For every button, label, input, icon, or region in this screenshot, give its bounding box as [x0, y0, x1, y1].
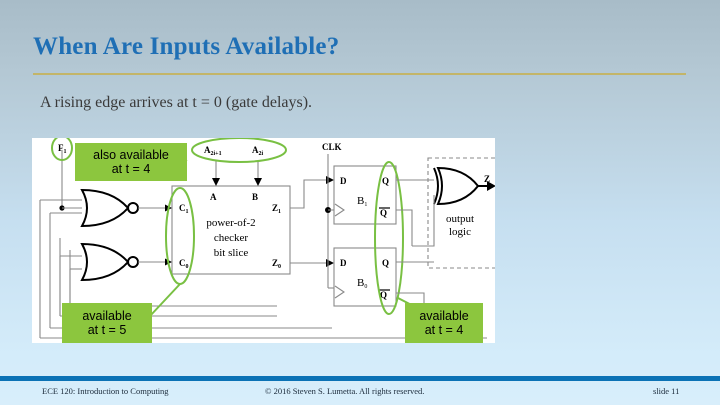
- output-z-label: Z: [484, 174, 490, 184]
- callout-line1: available: [82, 309, 131, 324]
- slide-subtitle: A rising edge arrives at t = 0 (gate del…: [40, 94, 312, 112]
- callout-line2: at t = 5: [88, 323, 127, 338]
- bitslice-out-z1-label: Z1: [272, 203, 281, 215]
- clk-label: CLK: [322, 142, 342, 152]
- input-a2i1-label: A2i+1: [204, 145, 222, 157]
- ff0-q-label: Q: [382, 258, 389, 268]
- bitslice-out-z0-label: Z0: [272, 258, 281, 270]
- callout-line2: at t = 4: [425, 323, 464, 338]
- callout-line1: available: [419, 309, 468, 324]
- callout-line1: also available: [93, 148, 169, 163]
- footer-slide-number: slide 11: [653, 386, 679, 400]
- ff1-d-label: D: [340, 176, 347, 186]
- output-logic-line1: output: [446, 213, 474, 225]
- ff0-name-label: B0: [357, 277, 367, 290]
- footer-divider-bar: [0, 376, 720, 381]
- callout-available-t4: available at t = 4: [405, 303, 483, 343]
- output-logic-line2: logic: [449, 226, 471, 238]
- ff1-q-label: Q: [382, 176, 389, 186]
- callout-line2: at t = 4: [112, 162, 151, 177]
- bitslice-input-a-label: A: [210, 192, 217, 202]
- input-a2i-label: A2i: [252, 145, 264, 157]
- bitslice-line2: checker: [214, 232, 249, 244]
- carry-in-lo-label: C0: [179, 258, 189, 270]
- callout-available-t5: available at t = 5: [62, 303, 152, 343]
- footer-course: ECE 120: Introduction to Computing: [42, 386, 169, 400]
- carry-in-hi-label: C1: [179, 203, 189, 215]
- bitslice-line3: bit slice: [214, 247, 249, 259]
- callout-also-available-t4: also available at t = 4: [75, 143, 187, 181]
- ff0-d-label: D: [340, 258, 347, 268]
- ff1-name-label: B1: [357, 195, 367, 208]
- footer-copyright: © 2016 Steven S. Lumetta. All rights res…: [265, 386, 424, 400]
- title-underline-rule: [33, 73, 686, 75]
- bitslice-input-b-label: B: [252, 192, 258, 202]
- ff1-qbar-label: Q: [380, 208, 387, 218]
- bitslice-line1: power-of-2: [206, 217, 255, 229]
- page-title: When Are Inputs Available?: [33, 33, 339, 61]
